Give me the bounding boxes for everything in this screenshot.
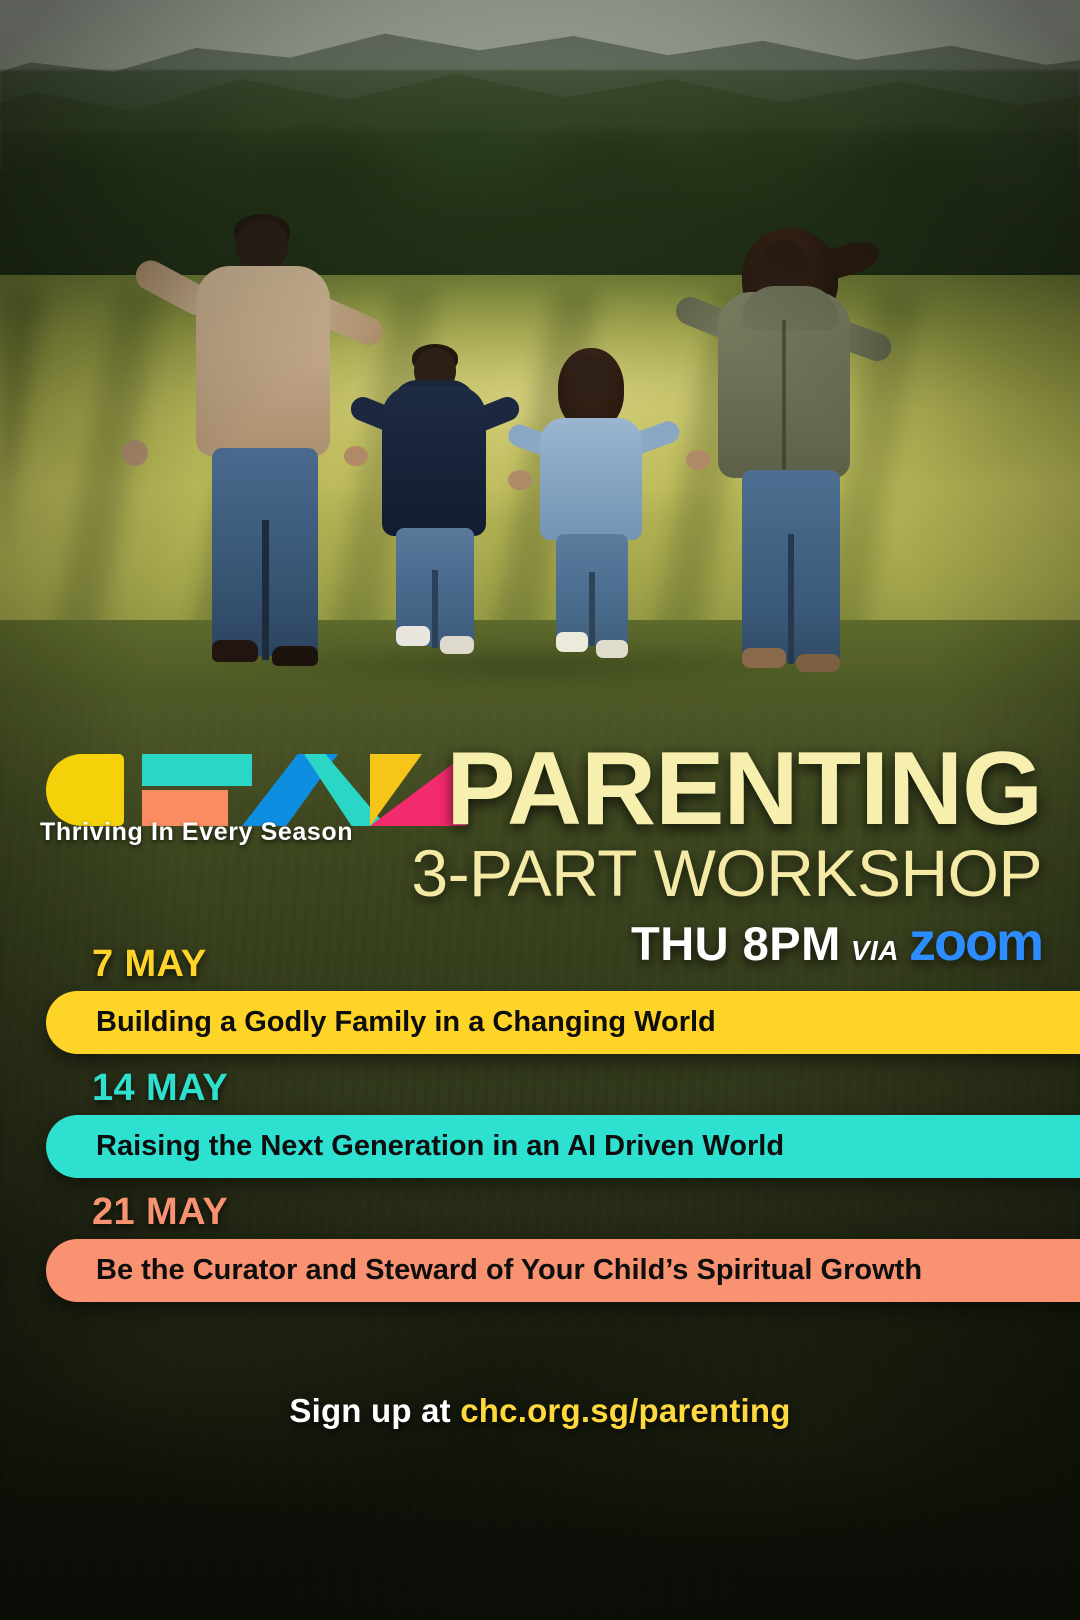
- session-topic-bar[interactable]: Be the Curator and Steward of Your Child…: [46, 1239, 1080, 1302]
- headline-block: PARENTING 3-PART WORKSHOP THU 8PM VIA zo…: [411, 742, 1042, 973]
- signup-url[interactable]: chc.org.sg/parenting: [460, 1392, 790, 1429]
- session-date: 14 MAY: [92, 1068, 1080, 1109]
- session-date: 7 MAY: [92, 944, 1080, 985]
- session-list: 7 MAY Building a Godly Family in a Chang…: [0, 944, 1080, 1316]
- page-title: PARENTING: [411, 742, 1042, 838]
- session-item: 21 MAY Be the Curator and Steward of You…: [0, 1192, 1080, 1302]
- poster-content: Thriving In Every Season PARENTING 3-PAR…: [0, 0, 1080, 1620]
- session-topic-bar[interactable]: Building a Godly Family in a Changing Wo…: [46, 991, 1080, 1054]
- session-item: 7 MAY Building a Godly Family in a Chang…: [0, 944, 1080, 1054]
- session-topic: Building a Godly Family in a Changing Wo…: [96, 1006, 716, 1039]
- brand-tagline: Thriving In Every Season: [40, 818, 400, 847]
- session-date: 21 MAY: [92, 1192, 1080, 1233]
- session-topic: Be the Curator and Steward of Your Child…: [96, 1254, 922, 1287]
- logo-letter-c-icon: [46, 754, 124, 826]
- poster-root: Thriving In Every Season PARENTING 3-PAR…: [0, 0, 1080, 1620]
- logo-letter-f-top-icon: [142, 754, 252, 786]
- session-item: 14 MAY Raising the Next Generation in an…: [0, 1068, 1080, 1178]
- signup-callout: Sign up at chc.org.sg/parenting: [0, 1392, 1080, 1430]
- cfam-logo-blocks: [46, 748, 376, 826]
- headline-subtitle: 3-PART WORKSHOP: [411, 840, 1042, 907]
- session-topic: Raising the Next Generation in an AI Dri…: [96, 1130, 784, 1163]
- signup-lead-text: Sign up at: [289, 1392, 460, 1429]
- session-topic-bar[interactable]: Raising the Next Generation in an AI Dri…: [46, 1115, 1080, 1178]
